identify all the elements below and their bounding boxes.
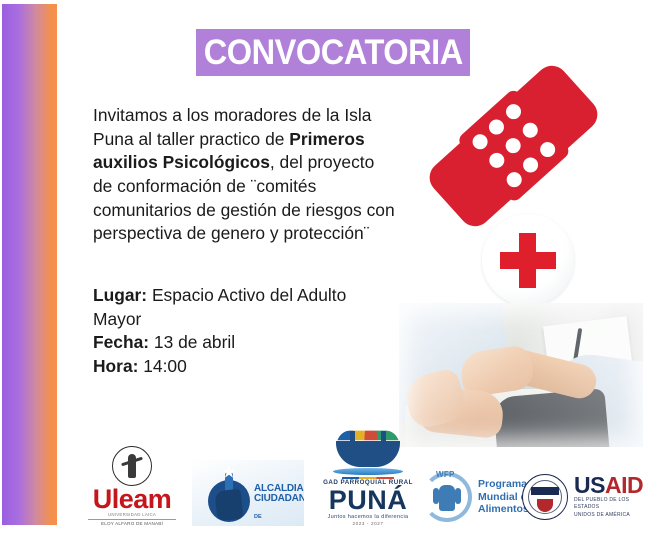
detail-time-label: Hora: bbox=[93, 356, 138, 376]
detail-place: Lugar: Espacio Activo del Adulto Mayor bbox=[93, 284, 396, 331]
uleam-subtitle-2: ELOY ALFARO DE MANABÍ bbox=[80, 521, 184, 528]
usaid-subtitle-1: DEL PUEBLO DE LOS ESTADOS bbox=[574, 497, 646, 512]
usaid-word-aid: AID bbox=[605, 472, 643, 498]
page-title: CONVOCATORIA bbox=[203, 35, 462, 70]
bandage-hole bbox=[486, 116, 507, 137]
banner-convocatoria: CONVOCATORIA bbox=[196, 29, 470, 76]
detail-time-value: 14:00 bbox=[138, 356, 186, 376]
detail-date: Fecha: 13 de abril bbox=[93, 331, 396, 355]
usaid-word-us: US bbox=[574, 472, 605, 498]
uleam-wordmark: Uleam bbox=[80, 487, 184, 512]
usaid-seal-band bbox=[531, 487, 559, 495]
bandage-hole bbox=[469, 131, 490, 152]
gradient-side-bar bbox=[2, 4, 57, 525]
alcaldia-figure bbox=[215, 489, 244, 522]
usaid-seal-icon bbox=[522, 474, 568, 520]
logo-usaid: USAID DEL PUEBLO DE LOS ESTADOS UNIDOS D… bbox=[522, 474, 646, 520]
bandage-hole bbox=[520, 120, 541, 141]
puna-wave-icon bbox=[333, 468, 403, 475]
photo-edge-fade bbox=[399, 303, 643, 447]
bandage-hole bbox=[520, 154, 541, 175]
usaid-wordmark: USAID bbox=[574, 475, 646, 497]
supportive-hands-photo bbox=[399, 303, 643, 447]
detail-date-label: Fecha: bbox=[93, 332, 149, 352]
logo-alcaldia-guayaquil: ALCALDIA CIUDADANA DEGUAYAQUIL bbox=[192, 460, 304, 526]
uleam-figure bbox=[128, 454, 136, 478]
detail-date-value: 13 de abril bbox=[149, 332, 235, 352]
alcaldia-de: DE bbox=[254, 514, 262, 520]
wfp-abbreviation: WFP bbox=[436, 470, 455, 479]
first-aid-artwork bbox=[420, 96, 600, 306]
puna-years: 2023 - 2027 bbox=[308, 521, 428, 528]
event-details: Lugar: Espacio Activo del Adulto Mayor F… bbox=[93, 284, 396, 379]
logo-uleam: Uleam UNIVERSIDAD LAICA ELOY ALFARO DE M… bbox=[80, 446, 184, 528]
bandage-hole bbox=[486, 150, 507, 171]
bandage-hole bbox=[537, 139, 558, 160]
detail-time: Hora: 14:00 bbox=[93, 355, 396, 379]
poster-canvas: CONVOCATORIA Invitamos a los moradores d… bbox=[0, 0, 658, 535]
usaid-row: USAID DEL PUEBLO DE LOS ESTADOS UNIDOS D… bbox=[522, 474, 646, 520]
alcaldia-line-3-wrap: DEGUAYAQUIL bbox=[254, 505, 304, 527]
usaid-subtitle-2: UNIDOS DE AMÉRICA bbox=[574, 512, 646, 520]
puna-wordmark: PUNÁ bbox=[308, 488, 428, 513]
bandage-hole bbox=[503, 169, 524, 190]
uleam-emblem-icon bbox=[112, 446, 152, 486]
alcaldia-text: ALCALDIA CIUDADANA DEGUAYAQUIL bbox=[254, 484, 304, 526]
puna-boat-icon bbox=[336, 441, 400, 467]
detail-place-label: Lugar: bbox=[93, 285, 147, 305]
photo-scene bbox=[399, 303, 643, 447]
puna-ribbon-icon bbox=[337, 431, 398, 441]
bandage-hole bbox=[503, 101, 524, 122]
body-paragraph: Invitamos a los moradores de la Isla Pun… bbox=[93, 104, 396, 246]
logo-puna: GAD PARROQUIAL RURAL PUNÁ Juntos hacemos… bbox=[308, 430, 428, 528]
wfp-hand-icon bbox=[439, 485, 455, 511]
sponsor-logo-strip: Uleam UNIVERSIDAD LAICA ELOY ALFARO DE M… bbox=[70, 452, 646, 530]
alcaldia-emblem-icon: ALCALDIA CIUDADANA DEGUAYAQUIL bbox=[192, 460, 304, 526]
uleam-divider bbox=[88, 519, 176, 520]
adhesive-bandage-icon bbox=[423, 59, 604, 233]
cross-bar-vertical bbox=[519, 233, 536, 288]
bandage-hole bbox=[503, 135, 524, 156]
red-cross-icon bbox=[482, 214, 574, 306]
alcaldia-line-2: CIUDADANA bbox=[254, 494, 304, 505]
wfp-emblem-icon: WFP bbox=[422, 472, 472, 522]
usaid-text: USAID DEL PUEBLO DE LOS ESTADOS UNIDOS D… bbox=[574, 475, 646, 519]
